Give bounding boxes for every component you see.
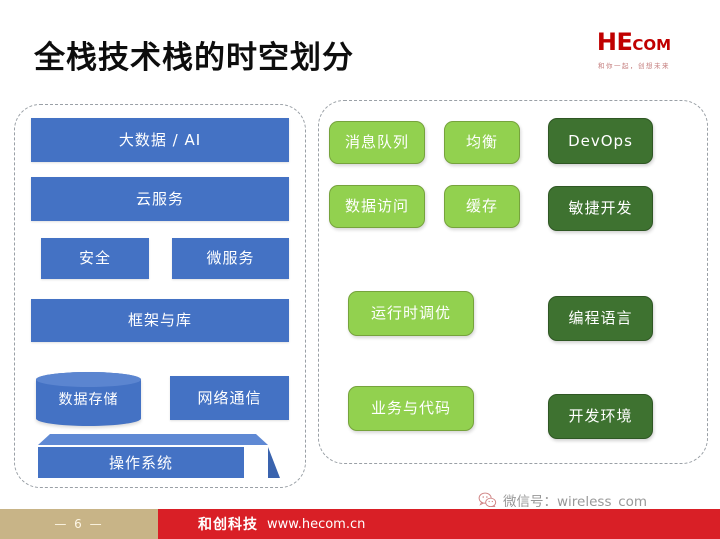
node-data-access[interactable]: 数据访问 bbox=[329, 185, 425, 228]
logo-com: COM bbox=[632, 36, 671, 54]
node-load-balancing[interactable]: 均衡 bbox=[444, 121, 520, 164]
node-microservice[interactable]: 微服务 bbox=[172, 238, 289, 279]
prism-top-face bbox=[38, 434, 268, 445]
footer: — 6 — 和创科技 www.hecom.cn bbox=[0, 509, 720, 539]
logo-tagline: 和你一起，创想未来 bbox=[570, 60, 698, 70]
node-cloud-service[interactable]: 云服务 bbox=[31, 177, 289, 221]
node-data-storage[interactable]: 数据存储 bbox=[36, 372, 141, 426]
prism-side-face bbox=[268, 436, 280, 478]
node-framework-library[interactable]: 框架与库 bbox=[31, 299, 289, 342]
node-operating-system[interactable]: 操作系统 bbox=[38, 434, 268, 478]
page-title: 全栈技术栈的时空划分 bbox=[34, 32, 354, 77]
node-programming-language[interactable]: 编程语言 bbox=[548, 296, 653, 341]
node-development-environment[interactable]: 开发环境 bbox=[548, 394, 653, 439]
footer-company-name: 和创科技 bbox=[198, 514, 258, 534]
node-devops[interactable]: DevOps bbox=[548, 118, 653, 164]
hecom-logo: HECOM 和你一起，创想未来 bbox=[570, 30, 698, 70]
node-runtime-tuning[interactable]: 运行时调优 bbox=[348, 291, 474, 336]
node-message-queue[interactable]: 消息队列 bbox=[329, 121, 425, 164]
node-business-and-code[interactable]: 业务与代码 bbox=[348, 386, 474, 431]
page-number: — 6 — bbox=[0, 509, 158, 539]
node-agile-development[interactable]: 敏捷开发 bbox=[548, 186, 653, 231]
node-network-communication[interactable]: 网络通信 bbox=[170, 376, 289, 420]
node-big-data-ai[interactable]: 大数据 / AI bbox=[31, 118, 289, 162]
node-operating-system-label: 操作系统 bbox=[38, 447, 244, 478]
node-cache[interactable]: 缓存 bbox=[444, 185, 520, 228]
slide-canvas: 全栈技术栈的时空划分 HECOM 和你一起，创想未来 大数据 / AI 云服务 … bbox=[0, 0, 720, 539]
node-security[interactable]: 安全 bbox=[41, 238, 149, 279]
logo-he: HE bbox=[597, 28, 632, 56]
node-data-storage-label: 数据存储 bbox=[36, 389, 141, 409]
footer-brand: 和创科技 www.hecom.cn bbox=[158, 509, 720, 539]
logo-wordmark: HECOM bbox=[570, 30, 698, 57]
cylinder-top-ellipse bbox=[36, 372, 141, 387]
footer-url[interactable]: www.hecom.cn bbox=[267, 517, 365, 532]
